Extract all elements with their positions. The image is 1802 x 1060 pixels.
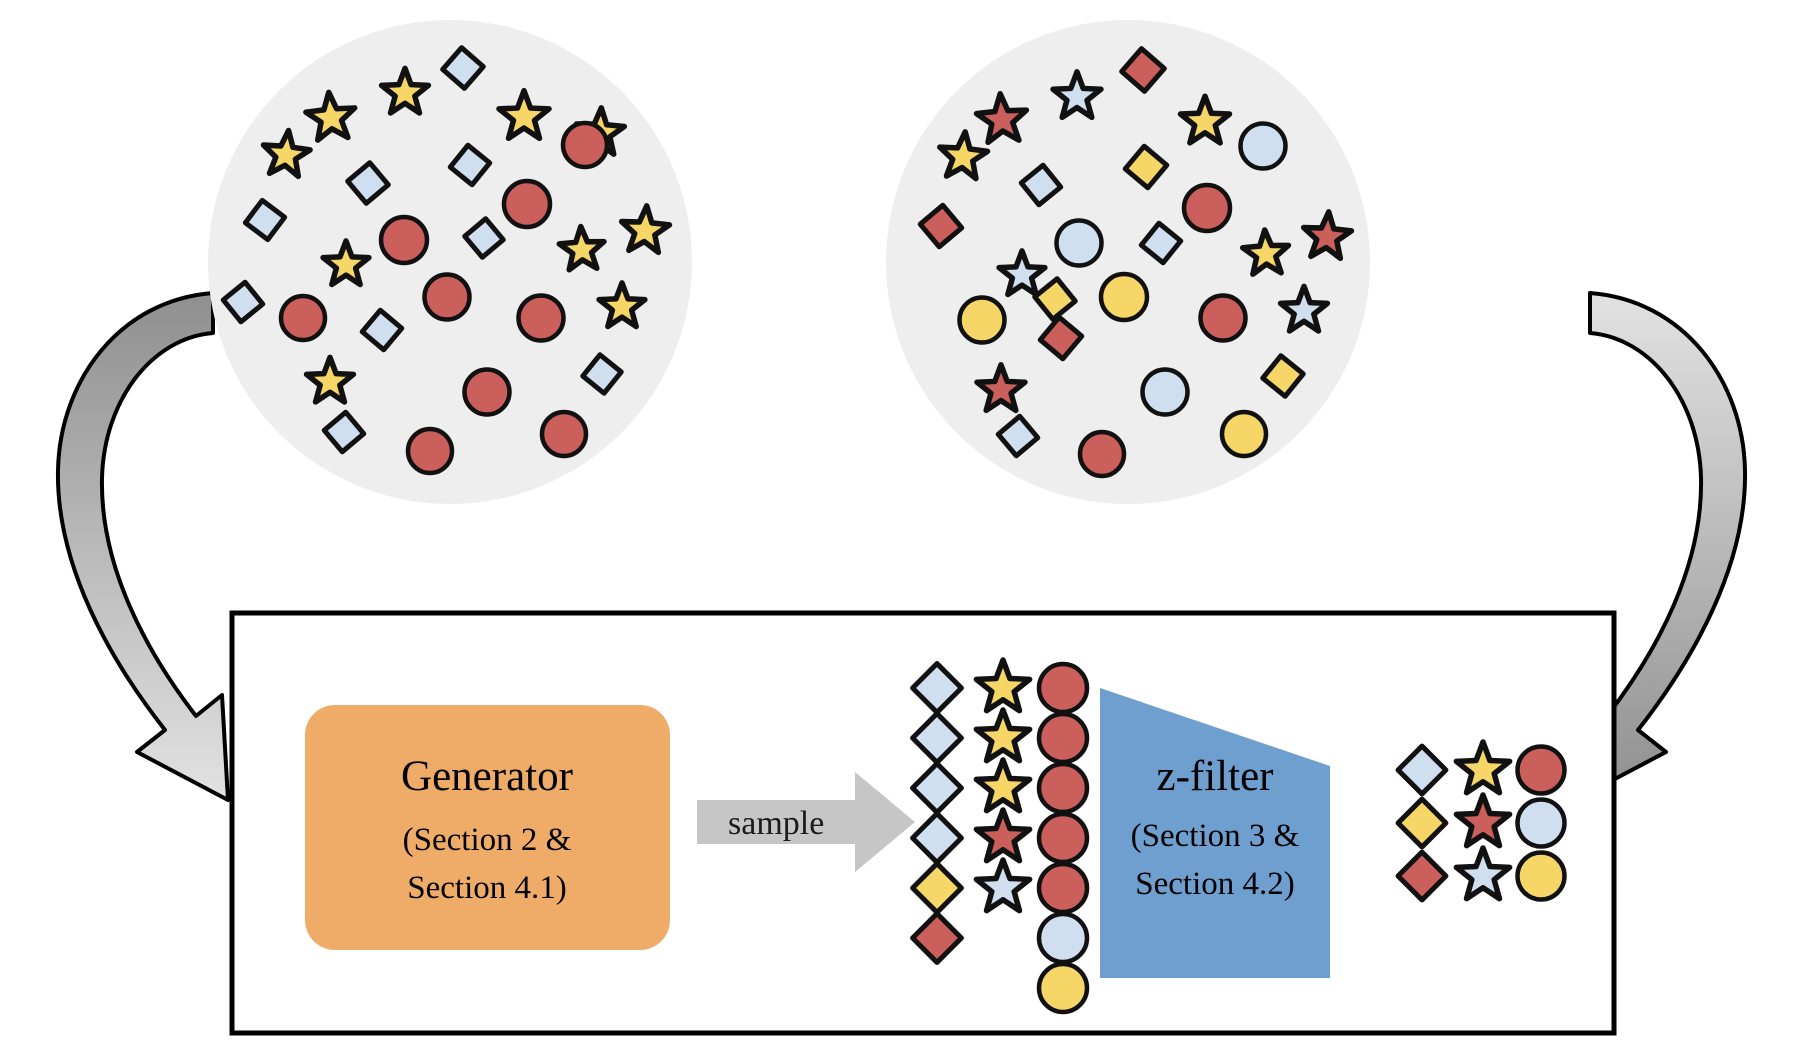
sampled-circle-shape bbox=[1039, 814, 1087, 862]
sampled-circle-shape bbox=[1039, 964, 1087, 1012]
target-circle-shape bbox=[1057, 221, 1102, 266]
source-circle-shape bbox=[465, 370, 510, 415]
target-distribution-disc bbox=[886, 20, 1370, 504]
target-distribution-cloud bbox=[886, 20, 1370, 504]
feedback-arrow-left bbox=[58, 293, 228, 800]
sampled-circle-shape bbox=[1039, 764, 1087, 812]
figure-canvas: Generator (Section 2 & Section 4.1) samp… bbox=[0, 0, 1802, 1060]
target-circle-shape bbox=[1201, 296, 1246, 341]
target-circle-shape bbox=[1101, 274, 1147, 320]
target-circle-shape bbox=[1241, 124, 1286, 169]
sampled-circle-shape bbox=[1039, 864, 1087, 912]
sampled-circle-shape bbox=[1039, 914, 1087, 962]
sampled-circle-shape bbox=[1039, 664, 1087, 712]
sampled-circle-shape bbox=[1039, 714, 1087, 762]
target-circle-shape bbox=[1184, 185, 1230, 231]
generator-subtitle-line2: Section 4.1) bbox=[407, 870, 566, 906]
filtered-row bbox=[1398, 742, 1564, 794]
zfilter-subtitle-line1: (Section 3 & bbox=[1131, 818, 1300, 854]
source-circle-shape bbox=[281, 296, 325, 340]
filtered-circle-shape bbox=[1518, 800, 1565, 847]
zfilter-subtitle-line2: Section 4.2) bbox=[1135, 866, 1294, 902]
source-circle-shape bbox=[425, 275, 470, 320]
target-circle-shape bbox=[1222, 412, 1266, 456]
generator-subtitle-line1: (Section 2 & bbox=[403, 822, 572, 858]
filtered-circle-shape bbox=[1518, 747, 1565, 794]
generator-title: Generator bbox=[401, 753, 573, 800]
source-circle-shape bbox=[504, 181, 550, 227]
generator-box[interactable]: Generator (Section 2 & Section 4.1) bbox=[305, 705, 670, 950]
target-circle-shape bbox=[1080, 432, 1124, 476]
source-distribution-cloud bbox=[208, 20, 692, 504]
source-circle-shape bbox=[542, 412, 586, 456]
filtered-row bbox=[1398, 848, 1564, 900]
source-circle-shape bbox=[381, 217, 427, 263]
source-circle-shape bbox=[563, 123, 607, 167]
filtered-circle-shape bbox=[1518, 853, 1565, 900]
source-circle-shape bbox=[408, 429, 452, 473]
filtered-shape-grid bbox=[1398, 742, 1564, 900]
source-distribution-disc bbox=[208, 20, 692, 504]
pipeline-diagram: Generator (Section 2 & Section 4.1) samp… bbox=[0, 0, 1802, 1060]
target-circle-shape bbox=[960, 298, 1005, 343]
sample-arrow-label: sample bbox=[728, 805, 824, 842]
zfilter-title: z-filter bbox=[1157, 753, 1274, 800]
target-circle-shape bbox=[1143, 370, 1188, 415]
source-circle-shape bbox=[519, 296, 564, 341]
filtered-row bbox=[1398, 795, 1564, 847]
